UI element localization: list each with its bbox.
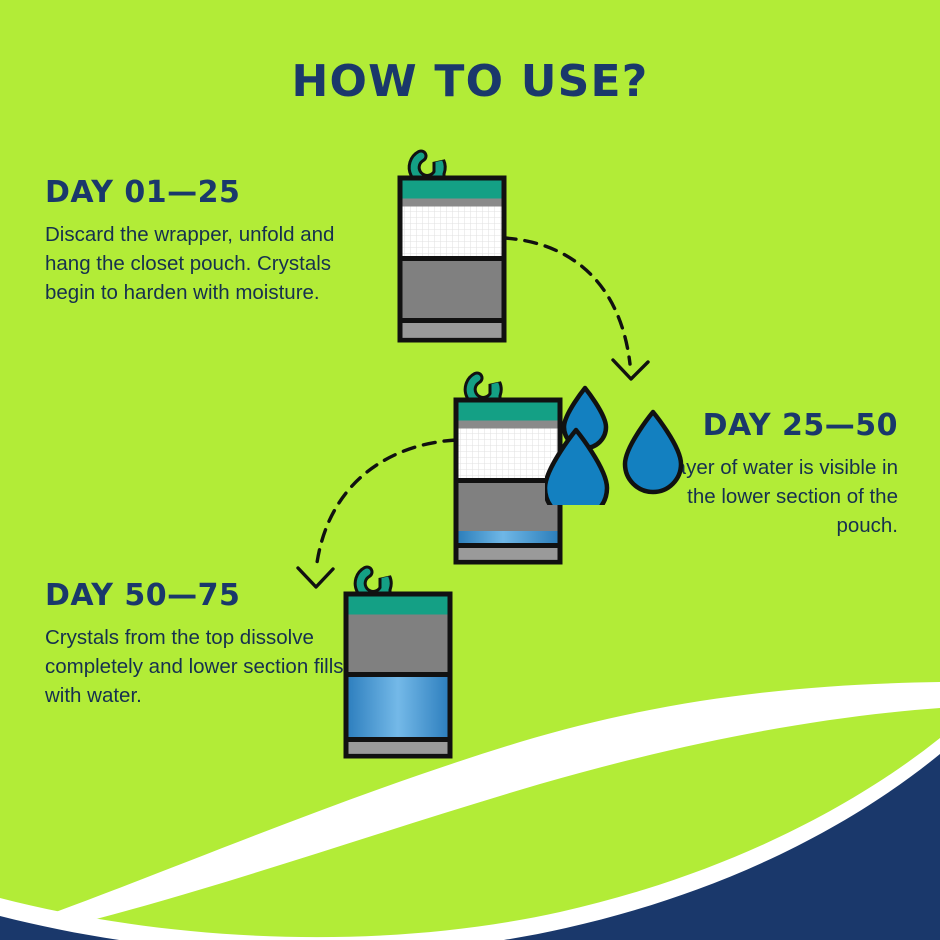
pouch-illustration-step-1: [393, 140, 511, 345]
arrow-curve: [504, 238, 630, 364]
pouch-bottom-divider: [456, 543, 560, 548]
pouch-illustration-step-3: [339, 556, 457, 761]
pouch-teal-header-bar: [459, 403, 558, 421]
bottom-wave-decoration: [0, 680, 940, 940]
pouch-upper-gray-strip: [403, 199, 502, 207]
pouch-bottom-strip: [349, 742, 448, 753]
step-1-description: Discard the wrapper, unfold and hang the…: [45, 220, 375, 307]
pouch-crystal-mesh-window: [403, 207, 502, 257]
pouch-divider: [346, 672, 450, 677]
pouch-bottom-divider: [346, 737, 450, 742]
pouch-lower-gray-section: [459, 483, 558, 531]
pouch-teal-header-bar: [349, 597, 448, 615]
arrow-head-icon: [613, 360, 648, 379]
pouch-upper-gray-section: [349, 615, 448, 673]
step-3-description: Crystals from the top dissolve completel…: [45, 623, 365, 710]
water-droplets-group: [545, 380, 695, 505]
pouch-crystal-mesh-window: [459, 429, 558, 479]
pouch-water-layer: [459, 531, 558, 543]
pouch-bottom-strip: [459, 548, 558, 559]
infographic-canvas: HOW TO USE? DAY 01—25 Discard the wrappe…: [0, 0, 940, 940]
water-droplet-medium-icon: [625, 412, 681, 492]
step-3-day-label: DAY 50—75: [45, 578, 365, 613]
wave-navy: [0, 754, 940, 940]
pouch-bottom-divider: [400, 318, 504, 323]
pouch-lower-gray-section: [403, 261, 502, 318]
step-3-text-block: DAY 50—75 Crystals from the top dissolve…: [45, 578, 365, 710]
wave-white-ribbon-upper: [0, 682, 940, 940]
pouch-upper-gray-strip: [459, 421, 558, 429]
pouch-teal-header-bar: [403, 181, 502, 199]
step-1-day-label: DAY 01—25: [45, 175, 375, 210]
pouch-water-filled-section: [349, 677, 448, 737]
page-title: HOW TO USE?: [0, 56, 940, 107]
pouch-bottom-strip: [403, 323, 502, 337]
wave-white-ribbon-lower: [0, 738, 940, 940]
step-1-text-block: DAY 01—25 Discard the wrapper, unfold an…: [45, 175, 375, 307]
pouch-divider: [400, 256, 504, 261]
arrow-curve: [316, 440, 456, 570]
wave-green-gap: [0, 708, 940, 940]
